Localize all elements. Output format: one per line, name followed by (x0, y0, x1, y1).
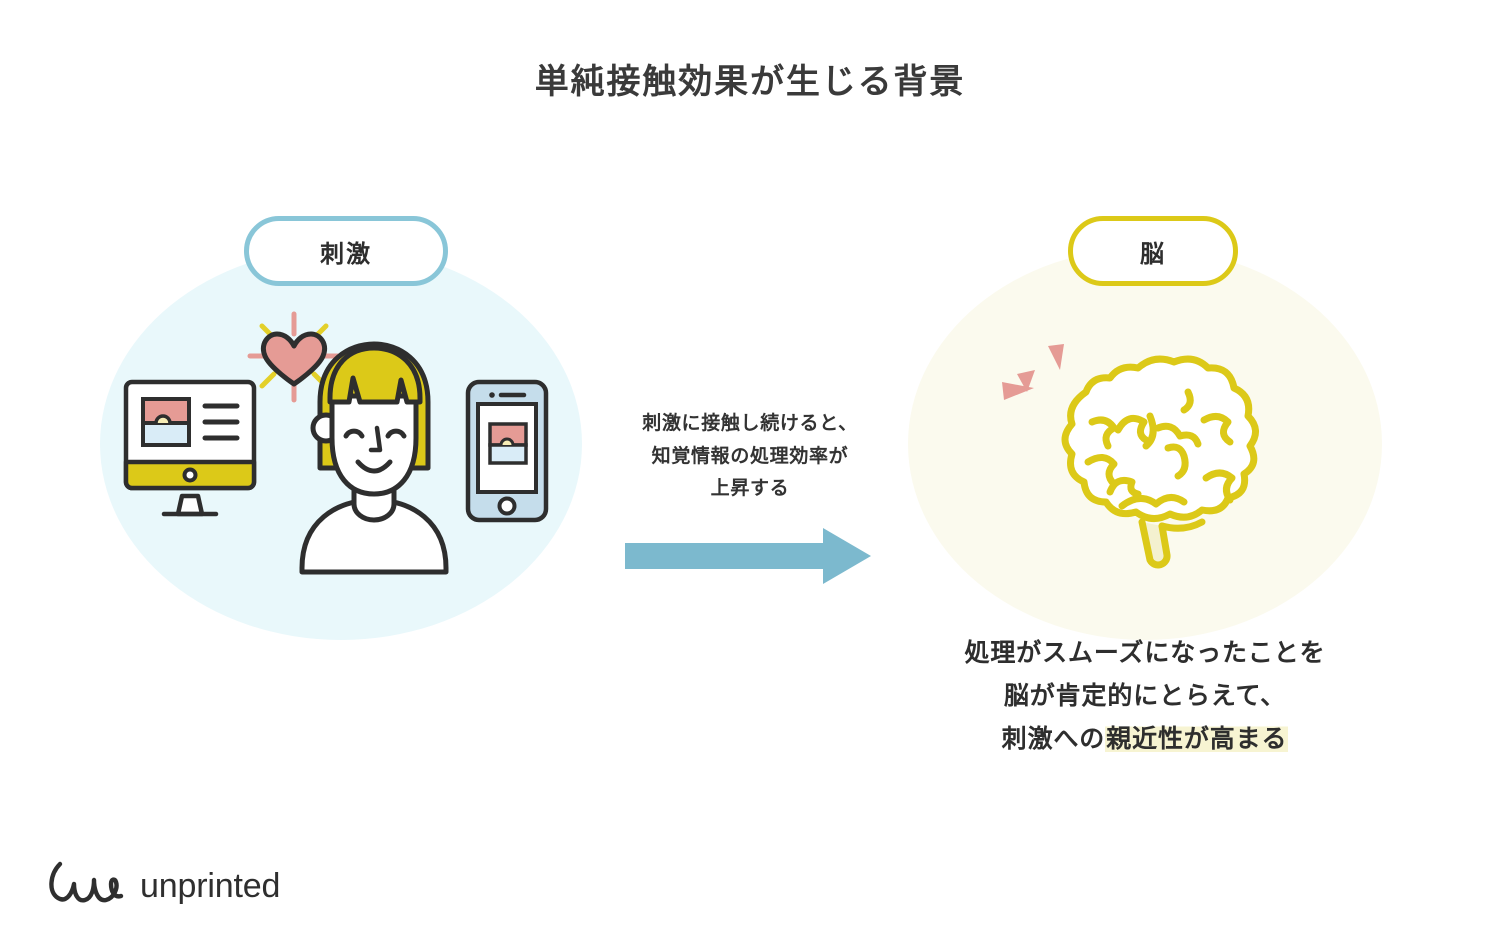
arrow-caption-line-1: 刺激に接触し続けると、 (600, 408, 900, 441)
arrow-caption-line-3: 上昇する (600, 473, 900, 506)
unprinted-script-mark-icon (48, 858, 126, 913)
monitor-icon (126, 382, 254, 514)
brain-caption-line-2: 脳が肯定的にとらえて、 (895, 675, 1395, 718)
arrow-caption-line-2: 知覚情報の処理効率が (600, 441, 900, 474)
page-title: 単純接触効果が生じる背景 (0, 60, 1500, 104)
brand-wordmark: unprinted (140, 869, 280, 903)
infographic-root: 単純接触効果が生じる背景 刺激 脳 (0, 0, 1500, 938)
brain-caption-highlight: 親近性が高まる (1105, 725, 1288, 753)
brain-pill-text: 脳 (1140, 234, 1166, 269)
brain-icon (1065, 359, 1256, 565)
sparkle-burst-icon (1002, 344, 1064, 400)
brain-caption-line-3-prefix: 刺激への (1002, 725, 1106, 753)
brain-caption-line-3: 刺激への親近性が高まる (895, 718, 1395, 761)
right-arrow-icon (625, 526, 875, 591)
transition-arrow-block: 刺激に接触し続けると、 知覚情報の処理効率が 上昇する (600, 408, 900, 578)
brain-caption: 処理がスムーズになったことを 脳が肯定的にとらえて、 刺激への親近性が高まる (895, 632, 1395, 761)
stimulus-illustration (120, 300, 560, 600)
brain-illustration (990, 330, 1290, 580)
person-icon (302, 344, 446, 572)
arrow-caption: 刺激に接触し続けると、 知覚情報の処理効率が 上昇する (600, 408, 900, 506)
brand-logo: unprinted (48, 858, 280, 913)
brain-pill-label: 脳 (1068, 216, 1238, 286)
smartphone-icon (468, 382, 546, 520)
brain-caption-line-1: 処理がスムーズになったことを (895, 632, 1395, 675)
stimulus-pill-label: 刺激 (244, 216, 448, 286)
stimulus-pill-text: 刺激 (320, 234, 372, 269)
